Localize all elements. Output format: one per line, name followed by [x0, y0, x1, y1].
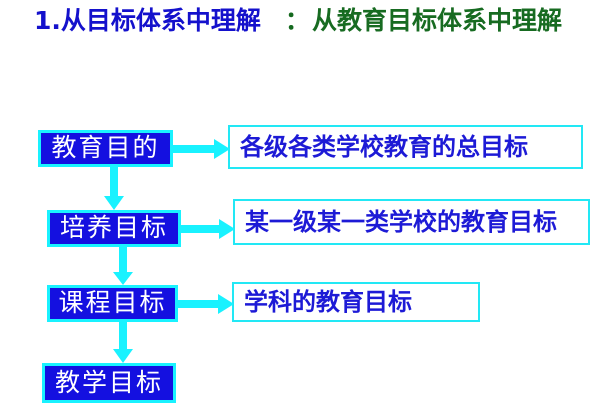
title-number: 1.	[34, 6, 61, 35]
description-box-education-purpose: 各级各类学校教育的总目标	[228, 125, 583, 169]
arrow-right-icon	[170, 138, 232, 160]
arrow-right-icon	[176, 293, 236, 315]
arrow-down-icon	[110, 245, 136, 287]
title-part-b: 从教育目标体系中理解	[312, 6, 562, 35]
description-label: 某一级某一类学校的教育目标	[245, 210, 557, 234]
arrow-down-icon	[110, 320, 136, 365]
node-curriculum-goal[interactable]: 课程目标	[47, 285, 178, 322]
node-teaching-goal[interactable]: 教学目标	[42, 363, 176, 403]
page-title: 1.从目标体系中理解：从教育目标体系中理解	[34, 6, 562, 36]
node-label: 教育目的	[51, 135, 159, 160]
slide-canvas: 1.从目标体系中理解：从教育目标体系中理解 教育目的 培养目标 课程目标 教学目…	[0, 0, 600, 401]
description-label: 各级各类学校教育的总目标	[240, 135, 528, 159]
node-label: 课程目标	[58, 290, 166, 315]
title-part-a: 从目标体系中理解	[61, 6, 261, 35]
arrow-down-icon	[101, 166, 127, 212]
node-label: 教学目标	[55, 370, 163, 395]
description-box-curriculum-goal: 学科的教育目标	[232, 282, 480, 322]
title-colon: ：	[283, 6, 312, 35]
arrow-right-icon	[178, 218, 237, 240]
node-cultivation-goal[interactable]: 培养目标	[47, 210, 181, 247]
node-education-purpose[interactable]: 教育目的	[38, 130, 173, 167]
description-box-cultivation-goal: 某一级某一类学校的教育目标	[233, 199, 590, 245]
node-label: 培养目标	[60, 215, 168, 240]
description-label: 学科的教育目标	[244, 290, 412, 314]
